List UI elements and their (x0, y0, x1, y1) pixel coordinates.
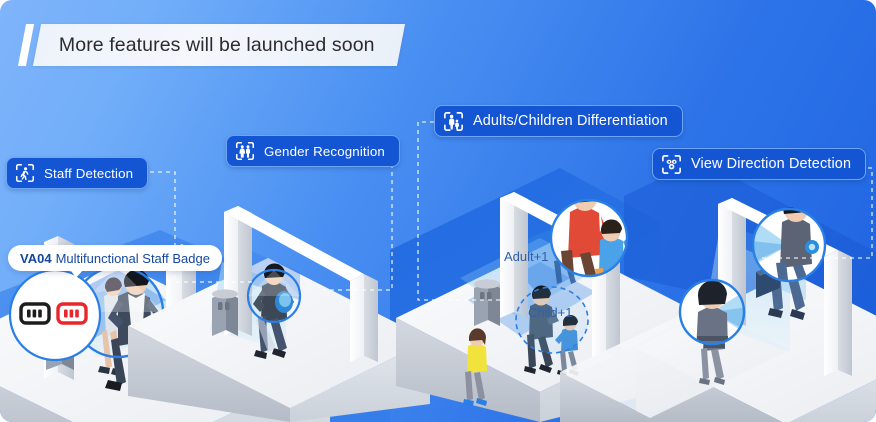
pill-label: Adults/Children Differentiation (473, 113, 668, 129)
pill-view-direction-detection[interactable]: View Direction Detection (652, 148, 866, 180)
pill-adults-children-differentiation[interactable]: Adults/Children Differentiation (434, 105, 683, 137)
pill-label: Gender Recognition (264, 144, 385, 159)
pill-label: Staff Detection (44, 166, 133, 181)
adult-count-label: Adult+1 (504, 249, 548, 264)
gender-recognition-icon (234, 140, 256, 162)
badge-title: Multifunctional Staff Badge (56, 251, 210, 266)
staff-badge-callout (8, 268, 102, 362)
trash-bin (474, 279, 500, 326)
view-direction-icon (660, 153, 683, 176)
va04-staff-badge-tooltip[interactable]: VA04 Multifunctional Staff Badge (8, 245, 222, 271)
trash-bin (212, 289, 238, 336)
banner-plate: More features will be launched soon (33, 24, 405, 66)
pill-staff-detection[interactable]: Staff Detection (6, 157, 148, 189)
adults-children-icon (442, 110, 465, 133)
badge-model: VA04 (20, 251, 52, 266)
pill-label: View Direction Detection (691, 156, 851, 172)
staff-detection-icon (14, 162, 36, 184)
feature-illustration-banner: More features will be launched soon Staf… (0, 0, 876, 422)
child-count-label: Child+1 (528, 305, 572, 320)
header-banner: More features will be launched soon (22, 24, 401, 66)
pill-gender-recognition[interactable]: Gender Recognition (226, 135, 400, 167)
page-title: More features will be launched soon (59, 34, 375, 57)
